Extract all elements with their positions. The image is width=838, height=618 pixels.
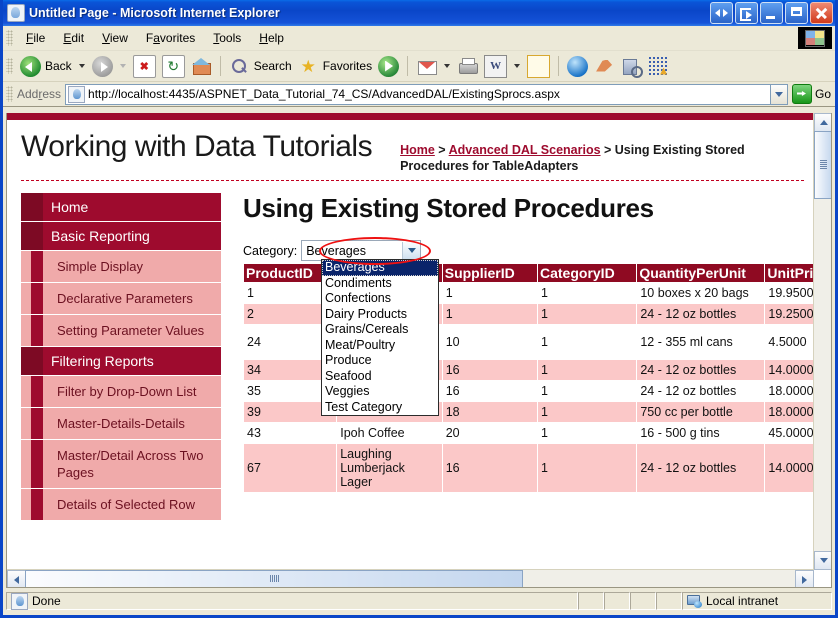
sidebar-item-master-details-details[interactable]: Master-Details-Details bbox=[21, 408, 221, 440]
dropdown-option-condiments[interactable]: Condiments bbox=[322, 276, 438, 292]
back-history-chevron-down-icon[interactable] bbox=[79, 64, 85, 68]
sidebar-item-simple-display[interactable]: Simple Display bbox=[21, 251, 221, 283]
toolbar-divider-2 bbox=[407, 56, 408, 76]
toolbar-divider-3 bbox=[558, 56, 559, 76]
title-bar: Untitled Page - Microsoft Internet Explo… bbox=[3, 0, 835, 26]
tool-bar: Back Search ★ Favorites bbox=[3, 51, 835, 82]
forward-history-chevron-down-icon bbox=[120, 64, 126, 68]
edit-chevron-down-icon[interactable] bbox=[514, 64, 520, 68]
go-button[interactable]: Go bbox=[788, 84, 835, 104]
menu-item-view[interactable]: View bbox=[93, 28, 137, 48]
cell-productname: Ipoh Coffee bbox=[337, 423, 443, 444]
cell-categoryid: 1 bbox=[538, 360, 637, 381]
cell-quantityperunit: 24 - 12 oz bottles bbox=[637, 381, 765, 402]
cell-unitprice: 19.9500 bbox=[765, 283, 814, 304]
address-bar: Address http://localhost:4435/ASPNET_Dat… bbox=[3, 82, 835, 107]
vertical-scrollbar[interactable] bbox=[813, 113, 831, 570]
sidebar-item-declarative-parameters[interactable]: Declarative Parameters bbox=[21, 283, 221, 315]
scroll-down-button[interactable] bbox=[814, 551, 832, 570]
cell-quantityperunit: 10 boxes x 20 bags bbox=[637, 283, 765, 304]
category-filter-row: Category: Beverages Beverages Condiments… bbox=[243, 240, 810, 261]
cell-categoryid: 1 bbox=[538, 304, 637, 325]
status-pane-3 bbox=[630, 592, 656, 610]
go-button-label: Go bbox=[815, 87, 831, 101]
address-url-text: http://localhost:4435/ASPNET_Data_Tutori… bbox=[88, 87, 560, 101]
cell-quantityperunit: 750 cc per bottle bbox=[637, 402, 765, 423]
sidebar-item-master-detail-across-two-pages[interactable]: Master/Detail Across Two Pages bbox=[21, 440, 221, 489]
horizontal-scrollbar[interactable] bbox=[7, 569, 814, 587]
close-button[interactable] bbox=[810, 2, 833, 24]
favorites-button[interactable]: ★ Favorites bbox=[295, 56, 375, 77]
cell-supplierid: 1 bbox=[442, 304, 537, 325]
status-message-pane: Done bbox=[6, 592, 578, 610]
category-selected-value: Beverages bbox=[302, 244, 402, 258]
cell-productid: 67 bbox=[244, 444, 337, 493]
print-button[interactable] bbox=[454, 56, 481, 77]
cell-unitprice: 45.0000 bbox=[765, 423, 814, 444]
menu-bar: File Edit View Favorites Tools Help bbox=[3, 26, 835, 51]
sidebar-item-basic-reporting[interactable]: Basic Reporting bbox=[21, 222, 221, 251]
menu-item-help[interactable]: Help bbox=[250, 28, 293, 48]
search-button-label: Search bbox=[254, 59, 292, 73]
breadcrumb: Home > Advanced DAL Scenarios > Using Ex… bbox=[400, 142, 770, 174]
category-chevron-down-icon[interactable] bbox=[402, 242, 420, 259]
main-content: Using Existing Stored Procedures Categor… bbox=[243, 193, 810, 521]
msn-explorer-button[interactable] bbox=[564, 56, 591, 77]
blue-globe-icon bbox=[567, 56, 588, 77]
cell-categoryid: 1 bbox=[538, 444, 637, 493]
dropdown-option-beverages[interactable]: Beverages bbox=[322, 260, 438, 276]
dropdown-option-test-category[interactable]: Test Category bbox=[322, 400, 438, 416]
address-input[interactable]: http://localhost:4435/ASPNET_Data_Tutori… bbox=[65, 84, 771, 105]
restore-group-button[interactable] bbox=[710, 2, 733, 24]
search-button[interactable]: Search bbox=[226, 56, 295, 77]
cell-unitprice: 14.0000 bbox=[765, 444, 814, 493]
mail-icon bbox=[416, 56, 437, 77]
dropdown-option-veggies[interactable]: Veggies bbox=[322, 384, 438, 400]
mail-chevron-down-icon[interactable] bbox=[444, 64, 450, 68]
stop-icon bbox=[133, 55, 156, 78]
back-button[interactable]: Back bbox=[17, 56, 75, 77]
cell-unitprice: 18.0000 bbox=[765, 381, 814, 402]
go-arrow-icon bbox=[792, 84, 812, 104]
breadcrumb-link-home[interactable]: Home bbox=[400, 143, 435, 157]
go-to-window-button[interactable] bbox=[735, 2, 758, 24]
discussions-button[interactable] bbox=[618, 56, 645, 77]
maximize-button[interactable] bbox=[785, 2, 808, 24]
cell-quantityperunit: 24 - 12 oz bottles bbox=[637, 304, 765, 325]
cell-categoryid: 1 bbox=[538, 402, 637, 423]
refresh-button[interactable] bbox=[159, 55, 188, 78]
sidebar-item-setting-parameter-values[interactable]: Setting Parameter Values bbox=[21, 315, 221, 347]
category-label: Category: bbox=[243, 244, 297, 258]
menu-item-edit[interactable]: Edit bbox=[54, 28, 93, 48]
dropdown-option-seafood[interactable]: Seafood bbox=[322, 369, 438, 385]
discuss-note-button[interactable] bbox=[524, 55, 553, 78]
menu-item-tools[interactable]: Tools bbox=[204, 28, 250, 48]
cell-unitprice: 14.0000 bbox=[765, 360, 814, 381]
column-header-categoryid[interactable]: CategoryID bbox=[538, 264, 637, 283]
back-arrow-icon bbox=[20, 56, 41, 77]
column-header-supplierid[interactable]: SupplierID bbox=[442, 264, 537, 283]
category-dropdown-list[interactable]: Beverages Condiments Confections Dairy P… bbox=[321, 259, 439, 416]
status-ie-icon bbox=[11, 593, 28, 610]
sidebar-nav: Home Basic Reporting Simple Display Decl… bbox=[21, 193, 221, 521]
page-body: Home Basic Reporting Simple Display Decl… bbox=[7, 181, 814, 521]
cell-categoryid: 1 bbox=[538, 381, 637, 402]
page-favicon-icon bbox=[68, 86, 85, 103]
cell-productid: 43 bbox=[244, 423, 337, 444]
dropdown-option-produce[interactable]: Produce bbox=[322, 353, 438, 369]
breadcrumb-link-section[interactable]: Advanced DAL Scenarios bbox=[449, 143, 601, 157]
cell-supplierid: 18 bbox=[442, 402, 537, 423]
status-text: Done bbox=[32, 594, 61, 608]
discussions-icon bbox=[621, 56, 642, 77]
home-icon bbox=[191, 56, 212, 77]
column-header-unitprice[interactable]: UnitPrice bbox=[765, 264, 814, 283]
table-row[interactable]: 43 Ipoh Coffee 20 1 16 - 500 g tins 45.0… bbox=[244, 423, 815, 444]
sidebar-item-filter-by-drop-down-list[interactable]: Filter by Drop-Down List bbox=[21, 376, 221, 408]
media-play-icon bbox=[378, 56, 399, 77]
window-title: Untitled Page - Microsoft Internet Explo… bbox=[29, 6, 710, 20]
messenger-button[interactable] bbox=[645, 56, 672, 77]
local-intranet-icon bbox=[687, 594, 702, 608]
scroll-right-button[interactable] bbox=[795, 570, 814, 588]
status-pane-1 bbox=[578, 592, 604, 610]
cell-supplierid: 16 bbox=[442, 360, 537, 381]
star-icon: ★ bbox=[298, 56, 319, 77]
back-button-label: Back bbox=[45, 59, 72, 73]
status-pane-4 bbox=[656, 592, 682, 610]
scroll-left-button[interactable] bbox=[7, 570, 26, 588]
menu-gripper[interactable] bbox=[6, 30, 13, 46]
cell-unitprice: 18.0000 bbox=[765, 402, 814, 423]
search-icon bbox=[229, 56, 250, 77]
cell-categoryid: 1 bbox=[538, 325, 637, 360]
msn-butterfly-button[interactable] bbox=[591, 56, 618, 77]
home-button[interactable] bbox=[188, 56, 215, 77]
sidebar-item-details-of-selected-row[interactable]: Details of Selected Row bbox=[21, 489, 221, 521]
cell-supplierid: 1 bbox=[442, 283, 537, 304]
table-row[interactable]: 67 Laughing Lumberjack Lager 16 1 24 - 1… bbox=[244, 444, 815, 493]
forward-button[interactable] bbox=[89, 56, 116, 77]
sidebar-item-home[interactable]: Home bbox=[21, 193, 221, 222]
dropdown-option-grains-cereals[interactable]: Grains/Cereals bbox=[322, 322, 438, 338]
dropdown-option-meat-poultry[interactable]: Meat/Poultry bbox=[322, 338, 438, 354]
media-button[interactable] bbox=[375, 56, 402, 77]
security-zone-pane[interactable]: Local intranet bbox=[682, 592, 832, 610]
security-zone-text: Local intranet bbox=[706, 594, 778, 608]
cell-supplierid: 20 bbox=[442, 423, 537, 444]
horizontal-scroll-thumb[interactable] bbox=[25, 570, 523, 588]
page-title: Using Existing Stored Procedures bbox=[243, 193, 810, 224]
address-gripper[interactable] bbox=[6, 86, 13, 102]
toolbar-divider bbox=[220, 56, 221, 76]
menu-item-favorites[interactable]: Favorites bbox=[137, 28, 204, 48]
toolbar-gripper[interactable] bbox=[6, 58, 13, 74]
ie-logo-icon bbox=[798, 27, 832, 49]
browser-window: Untitled Page - Microsoft Internet Explo… bbox=[0, 0, 838, 618]
cell-categoryid: 1 bbox=[538, 283, 637, 304]
cell-quantityperunit: 24 - 12 oz bottles bbox=[637, 360, 765, 381]
stop-button[interactable] bbox=[130, 55, 159, 78]
category-select[interactable]: Beverages bbox=[301, 240, 421, 261]
site-title: Working with Data Tutorials bbox=[21, 130, 372, 164]
note-icon bbox=[527, 55, 550, 78]
breadcrumb-separator-2: > bbox=[601, 143, 615, 157]
minimize-button[interactable] bbox=[760, 2, 783, 24]
dropdown-option-confections[interactable]: Confections bbox=[322, 291, 438, 307]
cell-quantityperunit: 16 - 500 g tins bbox=[637, 423, 765, 444]
page-top-accent-bar bbox=[7, 113, 814, 120]
forward-arrow-icon bbox=[92, 56, 113, 77]
cell-supplierid: 10 bbox=[442, 325, 537, 360]
vertical-scroll-thumb[interactable] bbox=[814, 131, 832, 199]
web-page: Working with Data Tutorials Home > Advan… bbox=[7, 113, 814, 570]
butterfly-icon bbox=[594, 56, 615, 77]
dropdown-option-dairy-products[interactable]: Dairy Products bbox=[322, 307, 438, 323]
sidebar-item-filtering-reports[interactable]: Filtering Reports bbox=[21, 347, 221, 376]
page-header: Working with Data Tutorials Home > Advan… bbox=[7, 120, 814, 174]
printer-icon bbox=[457, 56, 478, 77]
ie-page-icon bbox=[7, 4, 25, 22]
cell-supplierid: 16 bbox=[442, 444, 537, 493]
cell-supplierid: 16 bbox=[442, 381, 537, 402]
scroll-up-button[interactable] bbox=[814, 113, 832, 132]
address-chevron-down-icon[interactable] bbox=[771, 84, 788, 105]
cell-quantityperunit: 24 - 12 oz bottles bbox=[637, 444, 765, 493]
menu-item-file[interactable]: File bbox=[17, 28, 54, 48]
window-controls bbox=[710, 2, 833, 24]
cell-categoryid: 1 bbox=[538, 423, 637, 444]
mail-button[interactable] bbox=[413, 56, 440, 77]
column-header-quantityperunit[interactable]: QuantityPerUnit bbox=[637, 264, 765, 283]
breadcrumb-separator-1: > bbox=[435, 143, 449, 157]
favorites-button-label: Favorites bbox=[323, 59, 372, 73]
refresh-icon bbox=[162, 55, 185, 78]
cell-productname: Laughing Lumberjack Lager bbox=[337, 444, 443, 493]
content-area: Working with Data Tutorials Home > Advan… bbox=[6, 113, 832, 588]
address-label: Address bbox=[17, 87, 61, 101]
status-bar: Done Local intranet bbox=[6, 590, 832, 612]
cell-quantityperunit: 12 - 355 ml cans bbox=[637, 325, 765, 360]
edit-button[interactable] bbox=[481, 55, 510, 78]
cell-unitprice: 4.5000 bbox=[765, 325, 814, 360]
word-edit-icon bbox=[484, 55, 507, 78]
status-pane-2 bbox=[604, 592, 630, 610]
messenger-icon bbox=[648, 56, 669, 77]
cell-unitprice: 19.2500 bbox=[765, 304, 814, 325]
